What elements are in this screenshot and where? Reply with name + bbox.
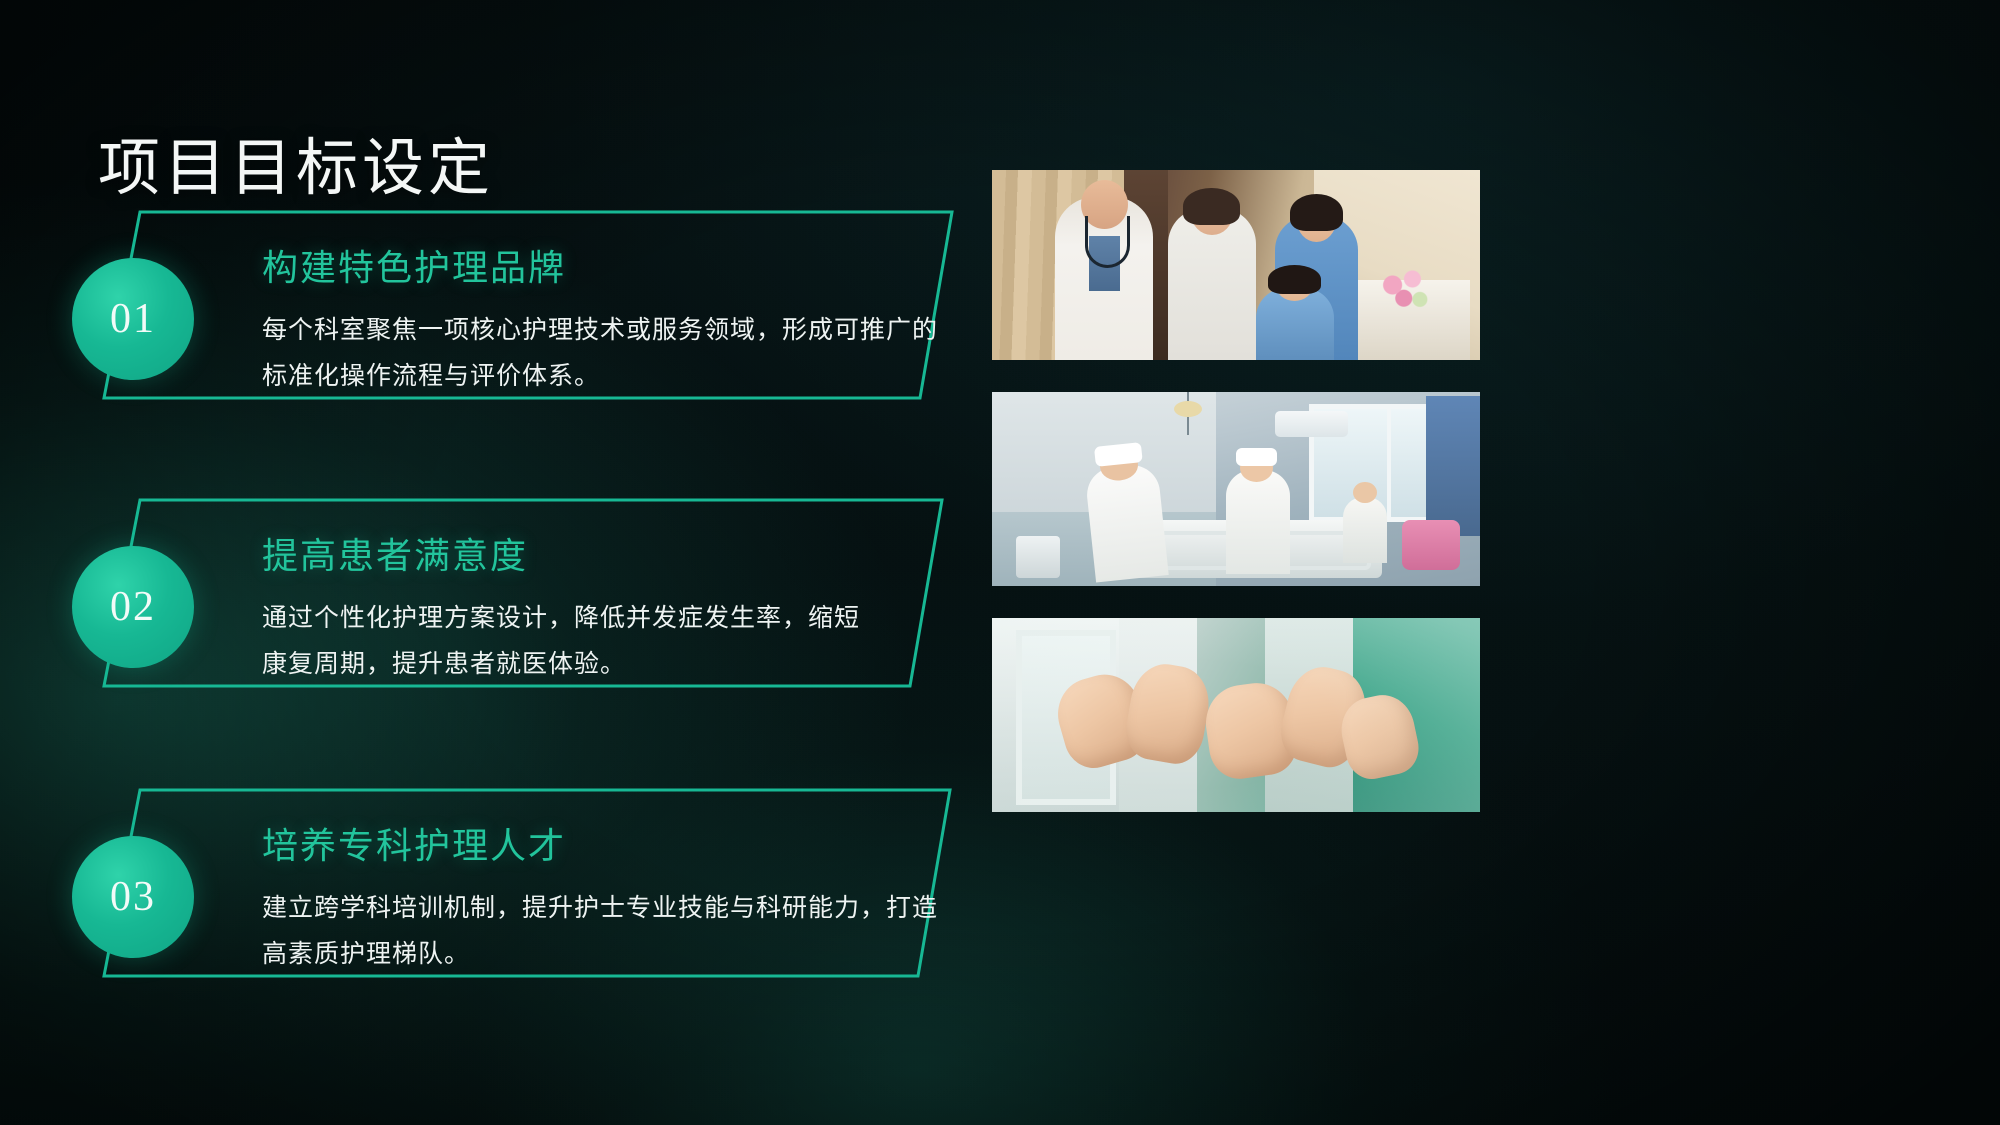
goal-badge-1[interactable]: 01: [72, 258, 194, 380]
photo-medical-team: [992, 170, 1480, 360]
goal-card-1[interactable]: 01 构建特色护理品牌 每个科室聚焦一项核心护理技术或服务领域，形成可推广的 标…: [72, 212, 952, 442]
goal-heading-3: 培养专科护理人才: [262, 828, 566, 864]
page-title: 项目目标设定: [98, 138, 494, 200]
goal-body-2-line-1: 通过个性化护理方案设计，降低并发症发生率，缩短: [262, 596, 952, 642]
goal-body-2-line-2: 康复周期，提升患者就医体验。: [262, 642, 952, 688]
photo-nurses-bedside: [992, 392, 1480, 586]
goal-heading-1: 构建特色护理品牌: [262, 250, 566, 286]
goal-card-2[interactable]: 02 提高患者满意度 通过个性化护理方案设计，降低并发症发生率，缩短 康复周期，…: [72, 500, 952, 730]
goal-body-3-line-1: 建立跨学科培训机制，提升护士专业技能与科研能力，打造: [262, 886, 952, 932]
goal-body-1-line-1: 每个科室聚焦一项核心护理技术或服务领域，形成可推广的: [262, 308, 952, 354]
goal-body-1: 每个科室聚焦一项核心护理技术或服务领域，形成可推广的 标准化操作流程与评价体系。: [262, 308, 952, 400]
goal-body-3: 建立跨学科培训机制，提升护士专业技能与科研能力，打造 高素质护理梯队。: [262, 886, 952, 978]
goal-card-3[interactable]: 03 培养专科护理人才 建立跨学科培训机制，提升护士专业技能与科研能力，打造 高…: [72, 790, 952, 1020]
goal-body-3-line-2: 高素质护理梯队。: [262, 932, 952, 978]
goal-badge-2-number: 02: [110, 586, 156, 628]
goal-badge-3[interactable]: 03: [72, 836, 194, 958]
goal-body-2: 通过个性化护理方案设计，降低并发症发生率，缩短 康复周期，提升患者就医体验。: [262, 596, 952, 688]
goal-badge-3-number: 03: [110, 876, 156, 918]
goal-badge-1-number: 01: [110, 298, 156, 340]
photo-applauding-hands: [992, 618, 1480, 812]
goal-heading-2: 提高患者满意度: [262, 538, 528, 574]
slide-root: 项目目标设定 01 构建特色护理品牌 每个科室聚焦一项核心护理技术或服务领域，形…: [0, 0, 2000, 1125]
goal-body-1-line-2: 标准化操作流程与评价体系。: [262, 354, 952, 400]
goal-badge-2[interactable]: 02: [72, 546, 194, 668]
